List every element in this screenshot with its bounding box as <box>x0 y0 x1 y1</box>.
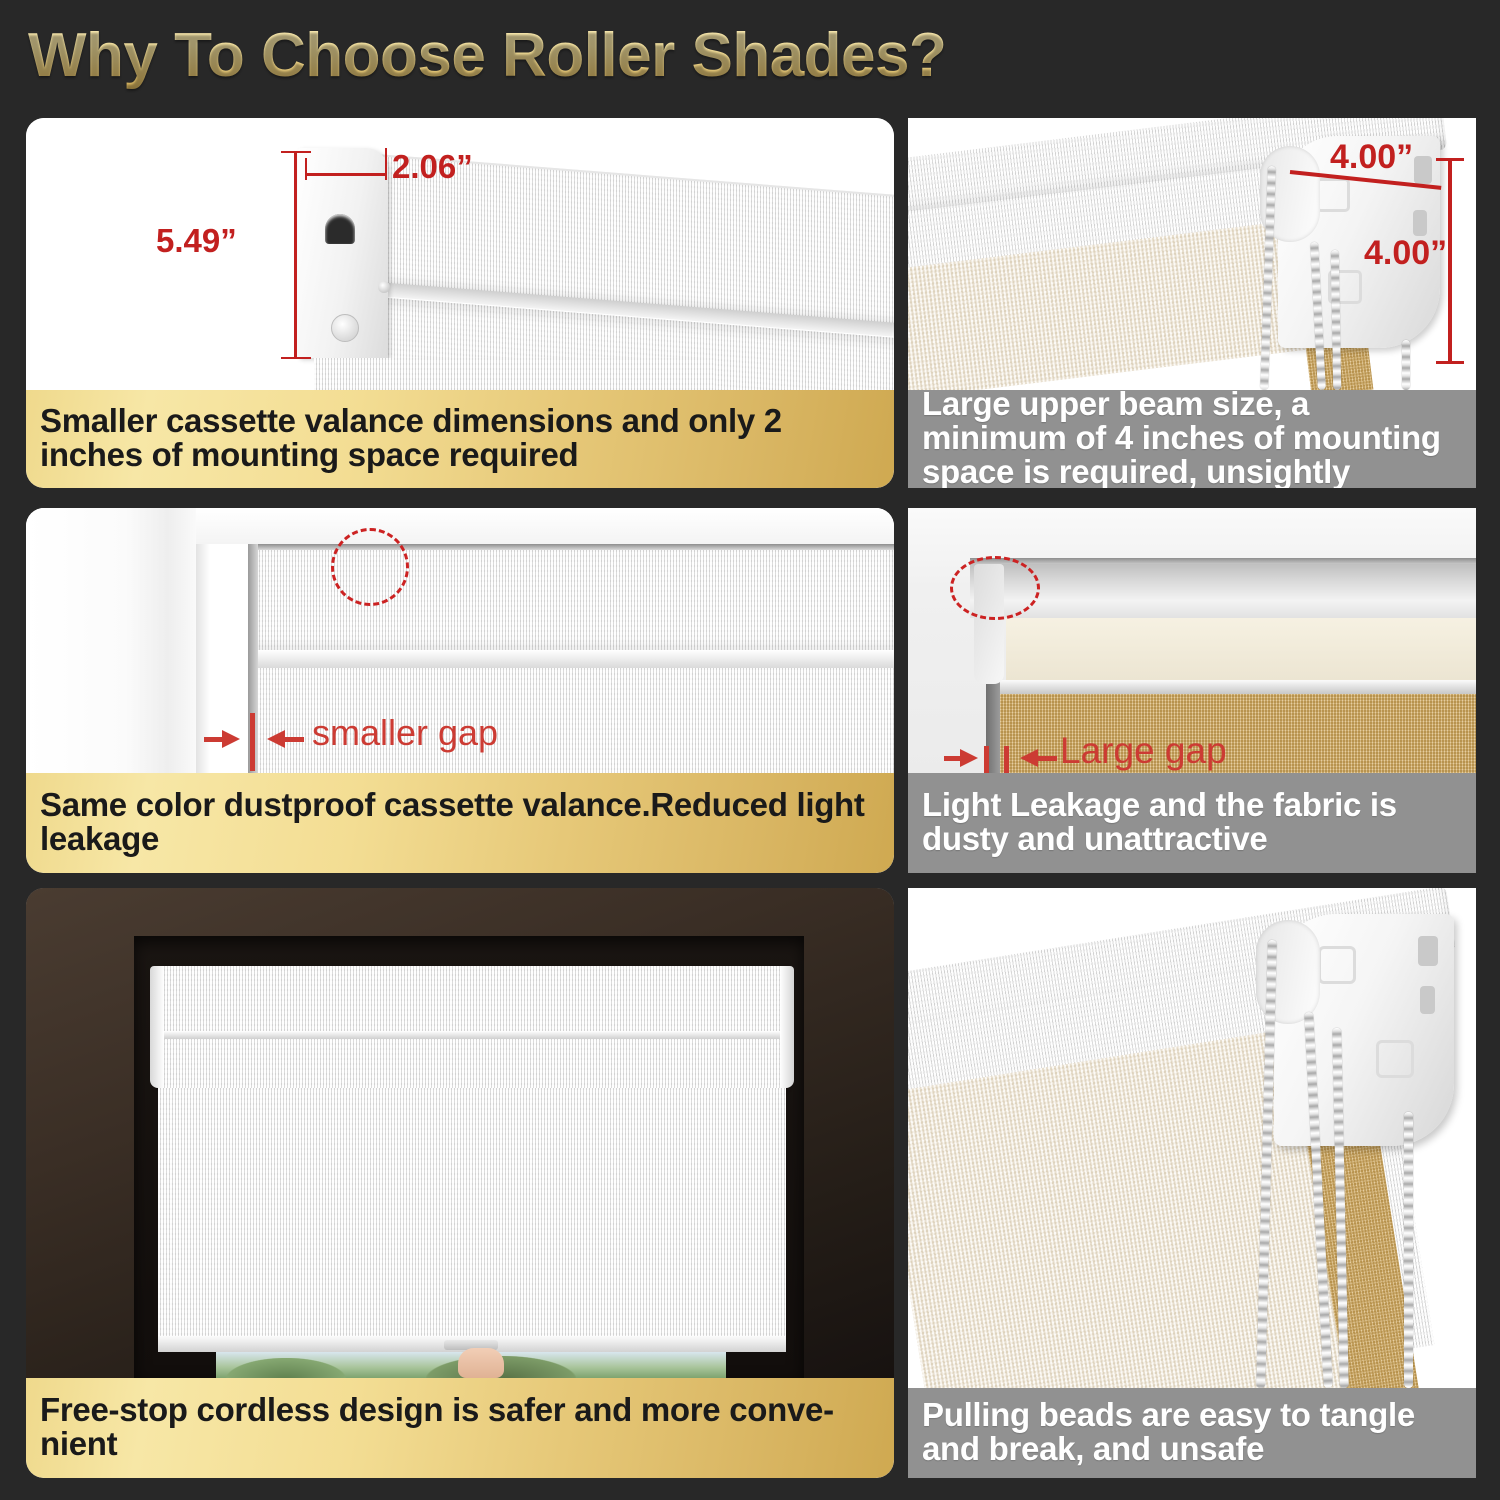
beam-height-dim-label: 4.00” <box>1364 234 1447 273</box>
bracket-logo-lower-icon <box>1376 1040 1414 1078</box>
shade-fabric-main-2 <box>158 1088 786 1343</box>
caption-large-upper-beam: Large upper beam size, a minimum of 4 in… <box>908 390 1476 488</box>
gap-arrow-right-icon <box>267 730 285 748</box>
end-cap-screw-icon <box>331 314 359 342</box>
light-leakage-photo: Large gap <box>908 508 1476 773</box>
caption-text: Light Leakage and the fabric is dusty an… <box>922 788 1462 856</box>
hand <box>458 1348 504 1378</box>
window-frame-head <box>196 508 894 544</box>
caption-text: Pulling beads are easy to tangle and bre… <box>922 1398 1462 1466</box>
page-title: Why To Choose Roller Shades? <box>28 16 1228 96</box>
gap-arrow-left-icon <box>960 749 978 767</box>
end-cap-small-screw-icon <box>378 281 390 293</box>
bracket-notch-top-icon <box>1418 936 1438 966</box>
headrail-left-cap <box>150 966 164 1088</box>
headrail-lower-roll <box>156 1038 788 1088</box>
bracket-notch-mid-icon <box>1413 210 1427 236</box>
infographic-page: Why To Choose Roller Shades? 2.06” 5.4 <box>0 0 1500 1500</box>
bead-chain-4 <box>1404 1112 1413 1388</box>
cordless-shade-room-photo <box>26 888 894 1378</box>
caption-smaller-cassette-valance: Smaller cassette valance dimensions and … <box>26 390 894 488</box>
tree-foliage <box>226 1358 346 1378</box>
caption-text: Free-stop cordless design is safer and m… <box>40 1393 880 1461</box>
gap-arrow-left-stem <box>944 756 962 761</box>
headrail-split-line <box>156 1031 788 1039</box>
panel-free-stop-cordless: Free-stop cordless design is safer and m… <box>26 888 894 1478</box>
gap-highlight-ellipse <box>950 556 1040 620</box>
panel-light-leakage: Large gap Light Leakage and the fabric i… <box>908 508 1476 873</box>
height-dim-label: 5.49” <box>156 222 237 260</box>
caption-text: Smaller cassette valance dimensions and … <box>40 404 880 472</box>
height-dim-tick-bottom <box>281 357 311 359</box>
gap-arrow-right-stem <box>284 737 304 742</box>
height-dim-line <box>294 151 297 359</box>
cassette-valance-bottom-lip <box>254 650 894 668</box>
beam-height-tick-top <box>1436 158 1464 161</box>
caption-text: Large upper beam size, a minimum of 4 in… <box>922 387 1462 488</box>
bracket-notch-mid-icon <box>1420 986 1435 1014</box>
gap-arrow-right-stem <box>1037 756 1057 761</box>
caption-pulling-beads-unsafe: Pulling beads are easy to tangle and bre… <box>908 1388 1476 1478</box>
large-gap-label: Large gap <box>1060 730 1227 772</box>
head-rail-top-edge <box>970 558 1476 564</box>
cassette-valance-photo: 2.06” 5.49” <box>26 118 894 390</box>
gap-marker-line-b <box>1004 746 1009 773</box>
caption-text: Same color dustproof cassette valance.Re… <box>40 788 880 856</box>
width-dim-line <box>305 173 387 176</box>
smaller-gap-label: smaller gap <box>312 712 498 754</box>
bracket-logo-upper-icon <box>1318 946 1356 984</box>
height-dim-tick-top <box>281 151 311 153</box>
dustproof-valance-photo: smaller gap <box>26 508 894 773</box>
gap-arrow-left-icon <box>222 730 240 748</box>
pulling-beads-photo <box>908 888 1476 1388</box>
width-dim-tick-right <box>385 148 387 180</box>
gap-arrow-right-icon <box>1020 749 1038 767</box>
fabric-band-bottom-rail <box>1000 680 1476 694</box>
gap-marker-line <box>250 713 255 771</box>
caption-light-leakage: Light Leakage and the fabric is dusty an… <box>908 773 1476 873</box>
beam-height-dim-line <box>1448 158 1452 363</box>
beam-height-tick-bottom <box>1436 361 1464 364</box>
panel-smaller-cassette-valance: 2.06” 5.49” Smaller cassette valance dim… <box>26 118 894 488</box>
cassette-headrail <box>156 966 788 1034</box>
caption-dustproof-cassette-valance: Same color dustproof cassette valance.Re… <box>26 773 894 873</box>
headrail-right-cap <box>780 966 794 1088</box>
large-beam-photo: 4.00” 4.00” <box>908 118 1476 390</box>
beam-width-dim-label: 4.00” <box>1330 138 1413 177</box>
bracket-logo-upper-icon <box>1316 178 1350 212</box>
gap-highlight-ellipse <box>331 528 409 606</box>
end-cap-slot-icon <box>325 214 355 244</box>
width-dim-tick-left <box>305 158 307 180</box>
head-rail <box>970 560 1476 618</box>
gap-marker-line-a <box>984 746 989 773</box>
gap-arrow-left-stem <box>204 737 224 742</box>
panel-large-upper-beam: 4.00” 4.00” Large upper beam size, a min… <box>908 118 1476 488</box>
bead-chain-4 <box>1402 340 1410 390</box>
cream-fabric-band <box>1006 618 1476 680</box>
window-frame-jamb <box>26 508 208 773</box>
panel-pulling-beads-unsafe: Pulling beads are easy to tangle and bre… <box>908 888 1476 1478</box>
window-frame-edge <box>196 508 210 773</box>
caption-free-stop-cordless: Free-stop cordless design is safer and m… <box>26 1378 894 1478</box>
fabric-drop <box>314 358 714 390</box>
bracket-notch-top-icon <box>1414 156 1432 184</box>
panel-dustproof-cassette-valance: smaller gap Same color dustproof cassett… <box>26 508 894 873</box>
width-dim-label: 2.06” <box>392 148 473 186</box>
